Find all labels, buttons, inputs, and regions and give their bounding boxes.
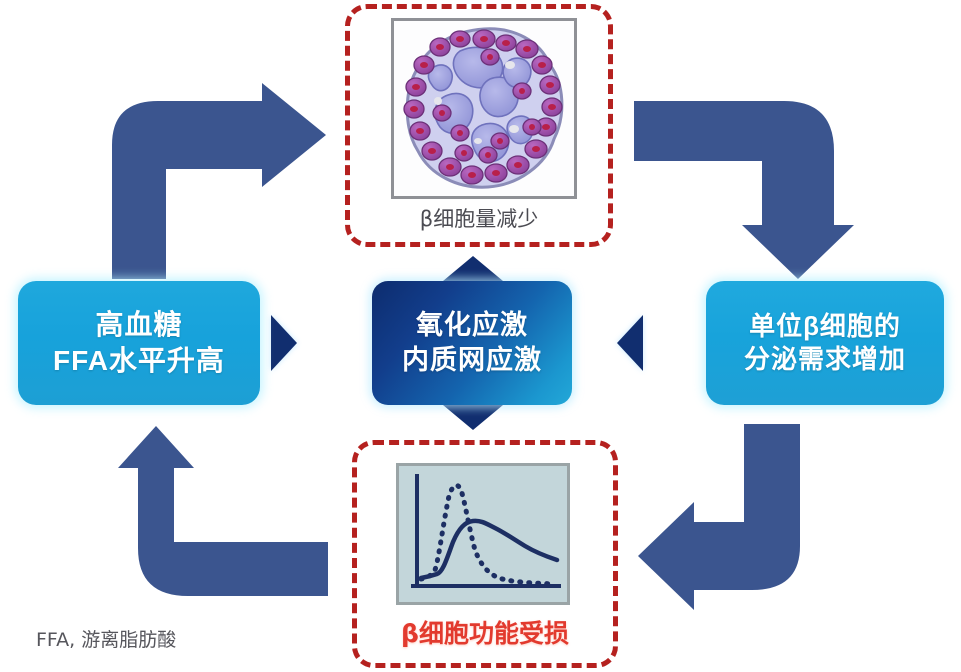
beta-cell-mass-caption: β细胞量减少 <box>345 203 613 233</box>
oxidative-er-stress-line1: 氧化应激 <box>416 308 528 343</box>
triangle-down-icon <box>443 405 503 430</box>
hyperglycemia-ffa-line1: 高血糖 <box>95 307 182 343</box>
insulin-secretion-curve-graphic <box>399 466 567 602</box>
arrow-mass-to-demand <box>634 83 858 284</box>
increased-secretory-demand-line1: 单位β细胞的 <box>749 310 901 343</box>
arrow-demand-to-function-shape <box>634 424 858 620</box>
diagram-canvas: β细胞量减少 β细胞功能受损 高血糖 FFA水平升高 氧化应激 内质网应激 单位… <box>0 0 961 672</box>
arrow-function-to-glucose-shape <box>104 424 328 620</box>
triangle-left-icon <box>617 315 643 371</box>
arrow-function-to-glucose <box>104 424 328 625</box>
arrow-glucose-to-mass <box>104 83 328 284</box>
increased-secretory-demand-box[interactable]: 单位β细胞的 分泌需求增加 <box>706 281 944 405</box>
arrow-mass-to-demand-shape <box>634 83 858 279</box>
beta-cell-function-caption: β细胞功能受损 <box>352 614 618 650</box>
oxidative-er-stress-line2: 内质网应激 <box>402 343 542 378</box>
islet-histology-graphic <box>394 21 574 196</box>
arrow-demand-to-function <box>634 424 858 625</box>
triangle-up-icon <box>443 256 503 281</box>
arrow-glucose-to-mass-shape <box>104 83 328 279</box>
triangle-right-icon <box>271 315 297 371</box>
hyperglycemia-ffa-line2: FFA水平升高 <box>53 343 225 379</box>
hyperglycemia-ffa-box[interactable]: 高血糖 FFA水平升高 <box>18 281 260 405</box>
footnote-abbreviation: FFA, 游离脂肪酸 <box>36 625 176 652</box>
insulin-secretion-curve-chart <box>396 463 570 605</box>
oxidative-er-stress-box[interactable]: 氧化应激 内质网应激 <box>372 281 572 405</box>
islet-histology-image <box>391 18 577 199</box>
increased-secretory-demand-line2: 分泌需求增加 <box>744 343 906 376</box>
